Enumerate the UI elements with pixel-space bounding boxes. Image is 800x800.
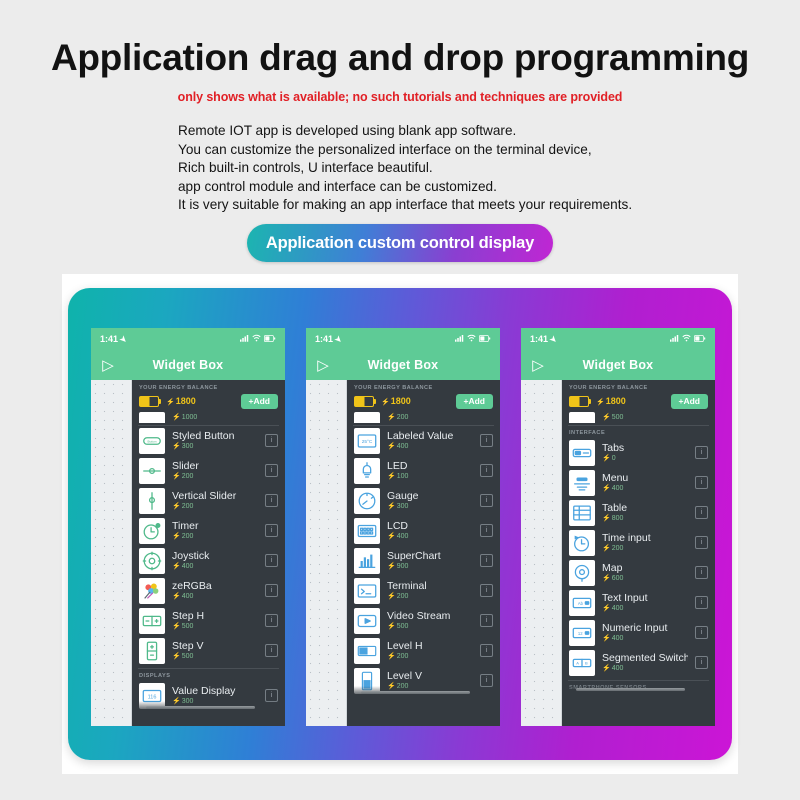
status-time: 1:41 bbox=[100, 334, 118, 344]
phone-screenshot-2: 1:41➤▷Widget BoxYOUR ENERGY BALANCE⚡1800… bbox=[306, 328, 500, 726]
battery-icon bbox=[694, 334, 706, 344]
widget-list-item[interactable]: AbText Input⚡400i bbox=[562, 588, 715, 618]
widget-price: ⚡200 bbox=[387, 413, 493, 422]
widget-info-button[interactable]: i bbox=[265, 524, 278, 537]
widget-price: ⚡0 bbox=[602, 454, 688, 463]
gradient-frame: 1:41➤▷Widget BoxYOUR ENERGY BALANCE⚡1800… bbox=[68, 288, 732, 760]
widget-name: Video Stream bbox=[387, 610, 473, 622]
svg-text:Ab: Ab bbox=[578, 600, 584, 605]
widget-price: ⚡600 bbox=[602, 574, 688, 583]
widget-name: Menu bbox=[602, 472, 688, 484]
description-line-3: Rich built-in controls, U interface beau… bbox=[178, 159, 632, 178]
status-bar: 1:41➤ bbox=[306, 328, 500, 350]
widget-price: ⚡300 bbox=[172, 697, 258, 706]
run-play-icon[interactable]: ▷ bbox=[306, 358, 340, 373]
svg-text:A: A bbox=[576, 660, 579, 665]
widget-price: ⚡400 bbox=[602, 664, 688, 673]
widget-info-button[interactable]: i bbox=[480, 434, 493, 447]
svg-text:12: 12 bbox=[578, 630, 583, 635]
widget-price: ⚡100 bbox=[387, 472, 473, 481]
widget-list-item[interactable]: Tabs⚡0i bbox=[562, 438, 715, 468]
run-play-icon[interactable]: ▷ bbox=[521, 358, 555, 373]
styled-button-icon: Button bbox=[139, 428, 165, 454]
signal-bars-icon bbox=[455, 334, 464, 344]
widget-price: ⚡400 bbox=[172, 562, 258, 571]
widget-info-button[interactable]: i bbox=[695, 596, 708, 609]
widget-name: Styled Button bbox=[172, 430, 258, 442]
widget-price: ⚡400 bbox=[602, 634, 688, 643]
disclaimer-text: only shows what is available; no such tu… bbox=[0, 90, 800, 104]
partial-widget-icon bbox=[569, 412, 595, 423]
widget-price: ⚡400 bbox=[602, 484, 688, 493]
energy-balance-label: YOUR ENERGY BALANCE bbox=[139, 385, 278, 391]
widget-list-item[interactable]: Map⚡600i bbox=[562, 558, 715, 588]
description-line-1: Remote IOT app is developed using blank … bbox=[178, 122, 632, 141]
widget-info-button[interactable]: i bbox=[265, 614, 278, 627]
widget-name: Table bbox=[602, 502, 688, 514]
add-energy-button[interactable]: +Add bbox=[456, 394, 494, 409]
step-v-icon bbox=[139, 638, 165, 664]
energy-balance-bar: YOUR ENERGY BALANCE⚡1800+Add bbox=[132, 380, 285, 412]
energy-balance-value: ⚡1800 bbox=[596, 396, 626, 406]
widget-panel: YOUR ENERGY BALANCE⚡1800+Add⚡1000ButtonS… bbox=[132, 380, 285, 726]
widget-price: ⚡1000 bbox=[172, 413, 278, 422]
wifi-icon bbox=[252, 334, 261, 344]
widget-list-item[interactable]: 12Numeric Input⚡400i bbox=[562, 618, 715, 648]
widget-name: Level V bbox=[387, 670, 473, 682]
widget-list-item[interactable]: Joystick⚡400i bbox=[132, 546, 285, 576]
battery-energy-icon bbox=[569, 396, 589, 407]
battery-energy-icon bbox=[354, 396, 374, 407]
widget-list-item[interactable]: ABSegmented Switch⚡400i bbox=[562, 648, 715, 678]
video-stream-icon bbox=[354, 608, 380, 634]
description-line-2: You can customize the personalized inter… bbox=[178, 141, 632, 160]
widget-info-button[interactable]: i bbox=[480, 524, 493, 537]
level-v-icon bbox=[354, 668, 380, 694]
app-bar: ▷Widget Box bbox=[91, 350, 285, 380]
wifi-icon bbox=[682, 334, 691, 344]
widget-info-button[interactable]: i bbox=[265, 644, 278, 657]
numeric-input-icon: 12 bbox=[569, 620, 595, 646]
widget-price: ⚡400 bbox=[172, 592, 258, 601]
location-arrow-icon: ➤ bbox=[118, 333, 129, 344]
design-canvas[interactable] bbox=[521, 380, 562, 726]
widget-name: Map bbox=[602, 562, 688, 574]
widget-price: ⚡200 bbox=[387, 592, 473, 601]
wifi-icon bbox=[467, 334, 476, 344]
status-bar: 1:41➤ bbox=[521, 328, 715, 350]
widget-list[interactable]: ⚡1000ButtonStyled Button⚡300iSlider⚡200i… bbox=[132, 412, 285, 711]
widget-list-item-partial[interactable]: ⚡200 bbox=[347, 412, 500, 423]
description-line-4: app control module and interface can be … bbox=[178, 178, 632, 197]
slider-icon bbox=[139, 458, 165, 484]
page-title: Application drag and drop programming bbox=[0, 38, 800, 79]
widget-price: ⚡200 bbox=[387, 682, 473, 691]
widget-info-button[interactable]: i bbox=[265, 494, 278, 507]
widget-name: Gauge bbox=[387, 490, 473, 502]
widget-list-item[interactable]: Timer⚡200i bbox=[132, 516, 285, 546]
widget-price: ⚡200 bbox=[602, 544, 688, 553]
led-icon bbox=[354, 458, 380, 484]
partial-widget-icon bbox=[354, 412, 380, 423]
widget-name: Step H bbox=[172, 610, 258, 622]
widget-list-item[interactable]: LCD⚡400i bbox=[347, 516, 500, 546]
time-input-icon bbox=[569, 530, 595, 556]
widget-list-item[interactable]: Step V⚡500i bbox=[132, 636, 285, 666]
section-badge: Application custom control display bbox=[247, 224, 553, 262]
step-h-icon bbox=[139, 608, 165, 634]
widget-info-button[interactable]: i bbox=[695, 536, 708, 549]
widget-info-button[interactable]: i bbox=[480, 614, 493, 627]
svg-text:116: 116 bbox=[148, 694, 157, 700]
design-canvas[interactable] bbox=[91, 380, 132, 726]
widget-info-button[interactable]: i bbox=[695, 446, 708, 459]
widget-name: Vertical Slider bbox=[172, 490, 258, 502]
widget-list-item[interactable]: Terminal⚡200i bbox=[347, 576, 500, 606]
widget-price: ⚡400 bbox=[387, 442, 473, 451]
widget-name: Tabs bbox=[602, 442, 688, 454]
widget-list-item[interactable]: Level H⚡200i bbox=[347, 636, 500, 666]
widget-price: ⚡200 bbox=[172, 502, 258, 511]
widget-info-button[interactable]: i bbox=[265, 584, 278, 597]
tabs-icon bbox=[569, 440, 595, 466]
list-section-header: INTERFACE bbox=[562, 426, 715, 438]
widget-name: Level H bbox=[387, 640, 473, 652]
widget-name: Segmented Switch bbox=[602, 652, 688, 664]
widget-info-button[interactable]: i bbox=[695, 506, 708, 519]
widget-list-item[interactable]: Slider⚡200i bbox=[132, 456, 285, 486]
widget-info-button[interactable]: i bbox=[265, 464, 278, 477]
energy-balance-label: YOUR ENERGY BALANCE bbox=[354, 385, 493, 391]
list-section-header: DISPLAYS bbox=[132, 669, 285, 681]
energy-balance-value: ⚡1800 bbox=[381, 396, 411, 406]
design-canvas[interactable] bbox=[306, 380, 347, 726]
energy-balance-label: YOUR ENERGY BALANCE bbox=[569, 385, 708, 391]
text-input-icon: Ab bbox=[569, 590, 595, 616]
zergba-icon bbox=[139, 578, 165, 604]
run-play-icon[interactable]: ▷ bbox=[91, 358, 125, 373]
widget-price: ⚡500 bbox=[172, 652, 258, 661]
widget-list-item[interactable]: Table⚡800i bbox=[562, 498, 715, 528]
segmented-switch-icon: AB bbox=[569, 650, 595, 676]
widget-list-item-partial[interactable]: ⚡500 bbox=[562, 412, 715, 423]
phone-screenshot-1: 1:41➤▷Widget BoxYOUR ENERGY BALANCE⚡1800… bbox=[91, 328, 285, 726]
description-line-5: It is very suitable for making an app in… bbox=[178, 196, 632, 215]
widget-info-button[interactable]: i bbox=[695, 626, 708, 639]
widget-list-item[interactable]: Time input⚡200i bbox=[562, 528, 715, 558]
widget-price: ⚡200 bbox=[172, 472, 258, 481]
app-bar: ▷Widget Box bbox=[306, 350, 500, 380]
widget-list-item[interactable]: Video Stream⚡500i bbox=[347, 606, 500, 636]
widget-name: Slider bbox=[172, 460, 258, 472]
svg-text:B: B bbox=[585, 660, 588, 665]
status-time: 1:41 bbox=[530, 334, 548, 344]
widget-panel: YOUR ENERGY BALANCE⚡1800+Add⚡500INTERFAC… bbox=[562, 380, 715, 726]
widget-name: Text Input bbox=[602, 592, 688, 604]
widget-name: LED bbox=[387, 460, 473, 472]
horizontal-scrollbar[interactable] bbox=[576, 688, 685, 691]
superchart-icon bbox=[354, 548, 380, 574]
terminal-icon bbox=[354, 578, 380, 604]
widget-price: ⚡900 bbox=[387, 562, 473, 571]
screenshot-card: 1:41➤▷Widget BoxYOUR ENERGY BALANCE⚡1800… bbox=[62, 274, 738, 774]
widget-price: ⚡300 bbox=[387, 502, 473, 511]
widget-info-button[interactable]: i bbox=[265, 434, 278, 447]
battery-icon bbox=[264, 334, 276, 344]
add-energy-button[interactable]: +Add bbox=[671, 394, 709, 409]
widget-list[interactable]: ⚡20025°CLabeled Value⚡400iLED⚡100iGauge⚡… bbox=[347, 412, 500, 696]
widget-name: Value Display bbox=[172, 685, 258, 697]
horizontal-scrollbar[interactable] bbox=[146, 706, 255, 709]
widget-price: ⚡400 bbox=[602, 604, 688, 613]
gauge-icon bbox=[354, 488, 380, 514]
timer-icon bbox=[139, 518, 165, 544]
widget-info-button[interactable]: i bbox=[695, 656, 708, 669]
widget-price: ⚡300 bbox=[172, 442, 258, 451]
widget-name: Step V bbox=[172, 640, 258, 652]
widget-info-button[interactable]: i bbox=[480, 494, 493, 507]
value-display-icon: 116 bbox=[139, 683, 165, 709]
widget-list-item[interactable]: Step H⚡500i bbox=[132, 606, 285, 636]
widget-name: SuperChart bbox=[387, 550, 473, 562]
partial-widget-icon bbox=[139, 412, 165, 423]
widget-name: LCD bbox=[387, 520, 473, 532]
widget-name: Joystick bbox=[172, 550, 258, 562]
widget-name: Numeric Input bbox=[602, 622, 688, 634]
widget-price: ⚡400 bbox=[387, 532, 473, 541]
widget-name: zeRGBa bbox=[172, 580, 258, 592]
vertical-slider-icon bbox=[139, 488, 165, 514]
widget-info-button[interactable]: i bbox=[695, 476, 708, 489]
widget-list-item[interactable]: Vertical Slider⚡200i bbox=[132, 486, 285, 516]
table-icon bbox=[569, 500, 595, 526]
widget-info-button[interactable]: i bbox=[480, 644, 493, 657]
joystick-icon bbox=[139, 548, 165, 574]
phone-screenshot-3: 1:41➤▷Widget BoxYOUR ENERGY BALANCE⚡1800… bbox=[521, 328, 715, 726]
energy-balance-bar: YOUR ENERGY BALANCE⚡1800+Add bbox=[347, 380, 500, 412]
signal-bars-icon bbox=[670, 334, 679, 344]
level-h-icon bbox=[354, 638, 380, 664]
widget-name: Labeled Value bbox=[387, 430, 473, 442]
widget-list[interactable]: ⚡500INTERFACETabs⚡0iMenu⚡400iTable⚡800iT… bbox=[562, 412, 715, 693]
widget-info-button[interactable]: i bbox=[480, 584, 493, 597]
status-bar: 1:41➤ bbox=[91, 328, 285, 350]
widget-list-item[interactable]: SuperChart⚡900i bbox=[347, 546, 500, 576]
map-icon bbox=[569, 560, 595, 586]
widget-price: ⚡200 bbox=[172, 532, 258, 541]
widget-price: ⚡500 bbox=[172, 622, 258, 631]
battery-energy-icon bbox=[139, 396, 159, 407]
widget-name: Time input bbox=[602, 532, 688, 544]
widget-list-item[interactable]: LED⚡100i bbox=[347, 456, 500, 486]
labeled-value-icon: 25°C bbox=[354, 428, 380, 454]
widget-list-item[interactable]: zeRGBa⚡400i bbox=[132, 576, 285, 606]
widget-price: ⚡500 bbox=[387, 622, 473, 631]
battery-icon bbox=[479, 334, 491, 344]
widget-name: Terminal bbox=[387, 580, 473, 592]
widget-list-item[interactable]: Gauge⚡300i bbox=[347, 486, 500, 516]
widget-list-item[interactable]: ButtonStyled Button⚡300i bbox=[132, 426, 285, 456]
svg-text:25°C: 25°C bbox=[362, 438, 373, 444]
app-bar: ▷Widget Box bbox=[521, 350, 715, 380]
location-arrow-icon: ➤ bbox=[548, 333, 559, 344]
widget-name: Timer bbox=[172, 520, 258, 532]
widget-price: ⚡800 bbox=[602, 514, 688, 523]
widget-info-button[interactable]: i bbox=[265, 689, 278, 702]
widget-panel: YOUR ENERGY BALANCE⚡1800+Add⚡20025°CLabe… bbox=[347, 380, 500, 726]
list-section-header: SMARTPHONE SENSORS bbox=[562, 681, 715, 693]
widget-list-item[interactable]: 25°CLabeled Value⚡400i bbox=[347, 426, 500, 456]
signal-bars-icon bbox=[240, 334, 249, 344]
widget-price: ⚡200 bbox=[387, 652, 473, 661]
widget-info-button[interactable]: i bbox=[265, 554, 278, 567]
lcd-icon bbox=[354, 518, 380, 544]
widget-info-button[interactable]: i bbox=[480, 674, 493, 687]
status-time: 1:41 bbox=[315, 334, 333, 344]
add-energy-button[interactable]: +Add bbox=[241, 394, 279, 409]
widget-price: ⚡500 bbox=[602, 413, 708, 422]
description-block: Remote IOT app is developed using blank … bbox=[178, 122, 632, 215]
svg-text:Button: Button bbox=[148, 439, 157, 443]
horizontal-scrollbar[interactable] bbox=[361, 691, 470, 694]
widget-info-button[interactable]: i bbox=[480, 554, 493, 567]
widget-info-button[interactable]: i bbox=[695, 566, 708, 579]
location-arrow-icon: ➤ bbox=[333, 333, 344, 344]
widget-info-button[interactable]: i bbox=[480, 464, 493, 477]
energy-balance-value: ⚡1800 bbox=[166, 396, 196, 406]
widget-list-item-partial[interactable]: ⚡1000 bbox=[132, 412, 285, 423]
widget-list-item[interactable]: Menu⚡400i bbox=[562, 468, 715, 498]
menu-icon bbox=[569, 470, 595, 496]
energy-balance-bar: YOUR ENERGY BALANCE⚡1800+Add bbox=[562, 380, 715, 412]
